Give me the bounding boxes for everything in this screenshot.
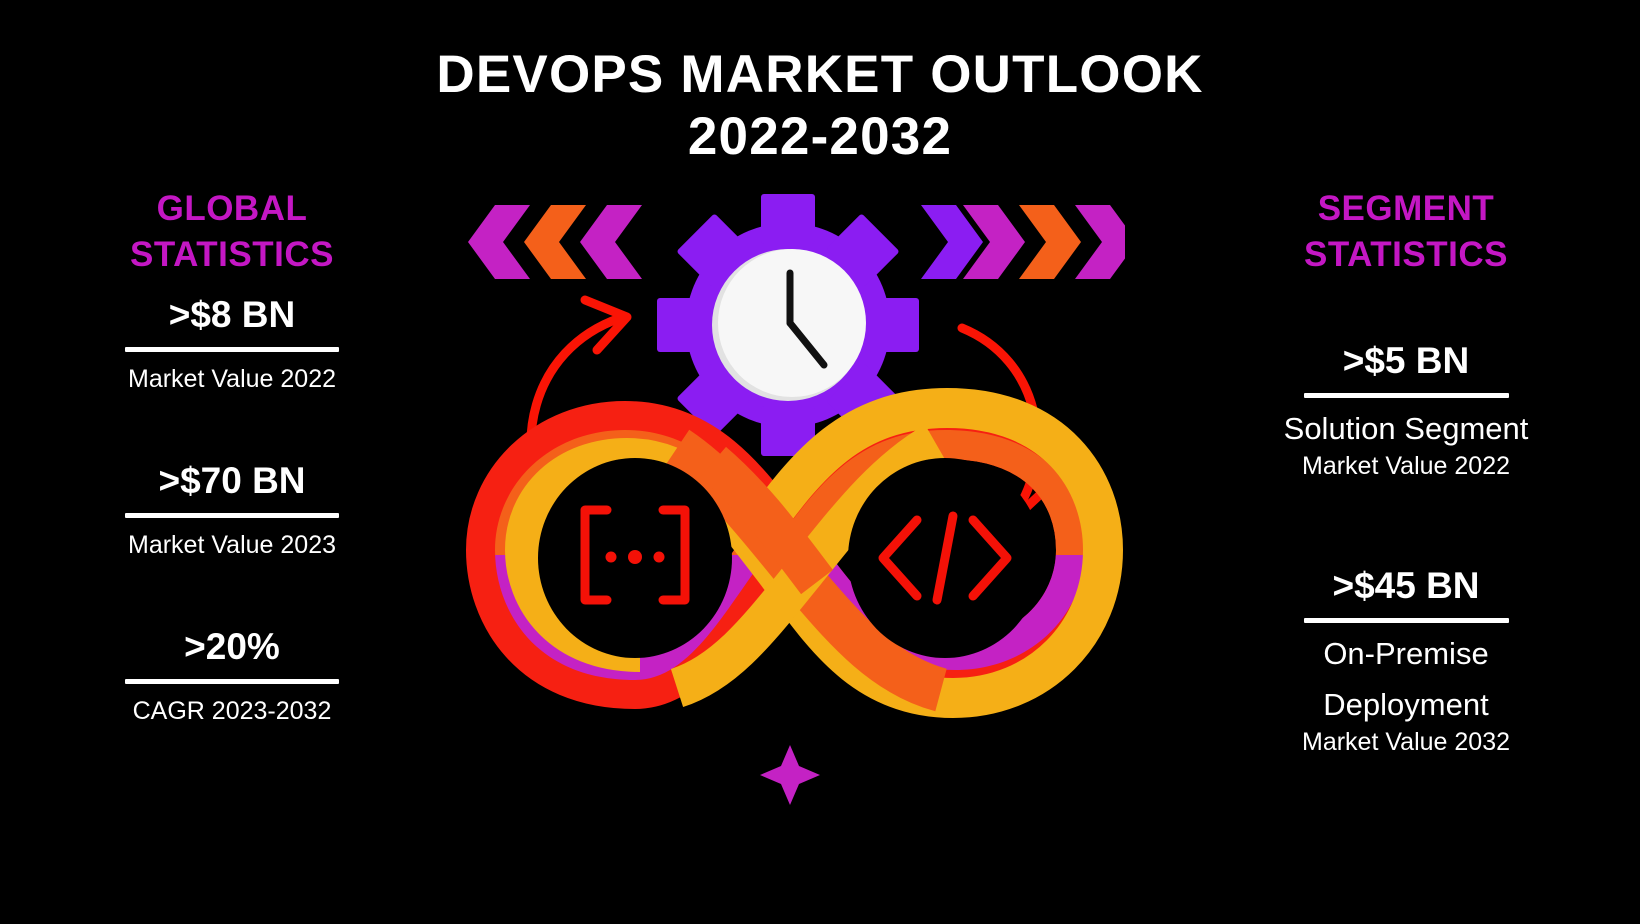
chevron-right-icon-4 — [1075, 205, 1125, 279]
global-statistics-heading: GLOBAL STATISTICS — [22, 186, 442, 278]
global-heading-line-1: GLOBAL — [22, 186, 442, 232]
global-heading-line-2: STATISTICS — [22, 232, 442, 278]
stat-label-main-line-2: Deployment — [1196, 685, 1616, 725]
stat-divider — [125, 679, 339, 684]
segment-statistics-heading: SEGMENT STATISTICS — [1196, 186, 1616, 278]
stat-label: Market Value 2022 — [22, 362, 442, 396]
segment-heading-line-2: STATISTICS — [1196, 232, 1616, 278]
devops-infinity-icon — [495, 408, 1103, 698]
page-title: DEVOPS MARKET OUTLOOK 2022-2032 — [0, 44, 1640, 168]
stat-divider — [1304, 618, 1509, 623]
stat-label-main-line-1: On-Premise — [1196, 634, 1616, 674]
stat-label: Market Value 2023 — [22, 528, 442, 562]
stat-on-premise-deployment: >$45 BN On-Premise Deployment Market Val… — [1196, 563, 1616, 759]
title-line-2: 2022-2032 — [0, 106, 1640, 168]
stat-label-sub: Market Value 2022 — [1196, 449, 1616, 483]
center-graphic — [455, 180, 1125, 820]
global-statistics-column: GLOBAL STATISTICS >$8 BN Market Value 20… — [22, 186, 442, 728]
stat-solution-segment: >$5 BN Solution Segment Market Value 202… — [1196, 338, 1616, 483]
stat-divider — [125, 347, 339, 352]
chevron-left-icon-3 — [580, 205, 642, 279]
stat-global-market-value-2023: >$70 BN Market Value 2023 — [22, 458, 442, 562]
stat-value: >$70 BN — [22, 458, 442, 504]
chevron-left-group — [468, 205, 642, 279]
segment-heading-line-1: SEGMENT — [1196, 186, 1616, 232]
chevron-right-icon-3 — [1019, 205, 1081, 279]
stat-value: >$45 BN — [1196, 563, 1616, 609]
title-line-1: DEVOPS MARKET OUTLOOK — [0, 44, 1640, 106]
infographic-canvas: DEVOPS MARKET OUTLOOK 2022-2032 GLOBAL S… — [0, 0, 1640, 924]
stat-divider — [1304, 393, 1509, 398]
stat-global-market-value-2022: >$8 BN Market Value 2022 — [22, 292, 442, 396]
stat-label-main: Solution Segment — [1196, 409, 1616, 449]
stat-value: >20% — [22, 624, 442, 670]
stat-divider — [125, 513, 339, 518]
chevron-left-icon-2 — [524, 205, 586, 279]
segment-statistics-column: SEGMENT STATISTICS >$5 BN Solution Segme… — [1196, 186, 1616, 759]
chevron-left-icon-1 — [468, 205, 530, 279]
stat-label-sub: Market Value 2032 — [1196, 725, 1616, 759]
stat-value: >$5 BN — [1196, 338, 1616, 384]
sparkle-icon — [760, 745, 820, 805]
chevron-right-group — [921, 205, 1125, 279]
stat-global-cagr: >20% CAGR 2023-2032 — [22, 624, 442, 728]
stat-value: >$8 BN — [22, 292, 442, 338]
stat-label: CAGR 2023-2032 — [22, 694, 442, 728]
